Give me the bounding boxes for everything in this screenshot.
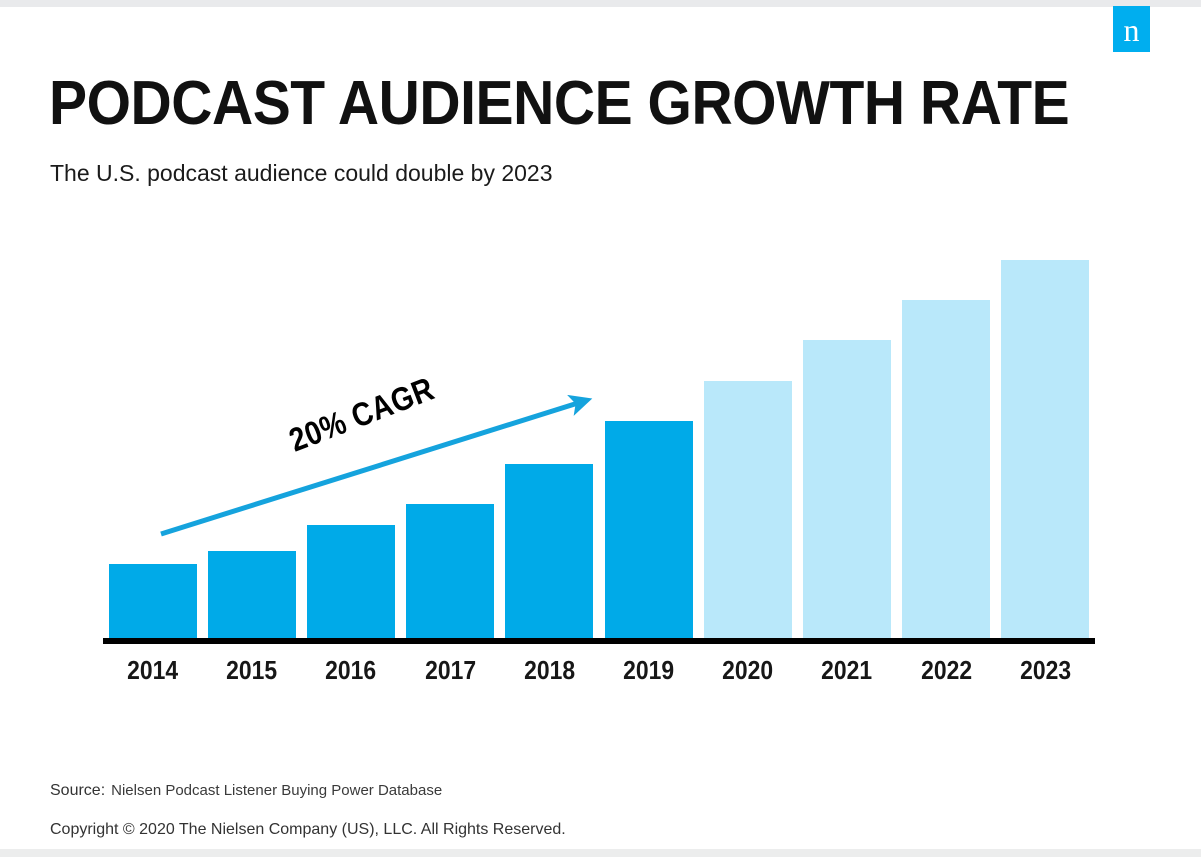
x-axis-tick-labels: 2014201520162017201820192020202120222023 [103,655,1095,695]
nielsen-logo: n [1113,6,1150,52]
nielsen-logo-glyph: n [1124,14,1140,46]
copyright-line: Copyright © 2020 The Nielsen Company (US… [50,821,566,839]
x-tick-2017: 2017 [407,655,494,686]
page-title: PODCAST AUDIENCE GROWTH RATE [49,72,1069,135]
x-tick-2020: 2020 [704,655,791,686]
bar-group [103,240,1095,643]
bar-2023 [1001,260,1089,643]
source-label: Source: [50,782,105,799]
bar-2021 [803,340,891,643]
x-tick-2019: 2019 [605,655,692,686]
x-tick-2023: 2023 [1002,655,1089,686]
x-tick-2022: 2022 [903,655,990,686]
x-tick-2018: 2018 [506,655,593,686]
bar-2018 [505,464,593,643]
plot-area [103,240,1095,643]
bar-2019 [605,421,693,643]
source-line: Source:Nielsen Podcast Listener Buying P… [50,782,442,800]
x-axis-line [103,638,1095,644]
cagr-annotation-label: 20% CAGR [284,370,439,460]
bottom-chrome-strip [0,849,1201,857]
bar-2014 [109,564,197,643]
x-tick-2021: 2021 [803,655,890,686]
bar-2015 [208,551,296,643]
top-chrome-strip [0,0,1201,7]
bar-2017 [406,504,494,643]
source-text: Nielsen Podcast Listener Buying Power Da… [111,782,442,799]
bar-2022 [902,300,990,643]
x-tick-2016: 2016 [307,655,394,686]
x-tick-2014: 2014 [109,655,196,686]
x-tick-2015: 2015 [208,655,295,686]
bar-2016 [307,525,395,643]
page-subtitle: The U.S. podcast audience could double b… [50,160,553,187]
bar-2020 [704,381,792,643]
